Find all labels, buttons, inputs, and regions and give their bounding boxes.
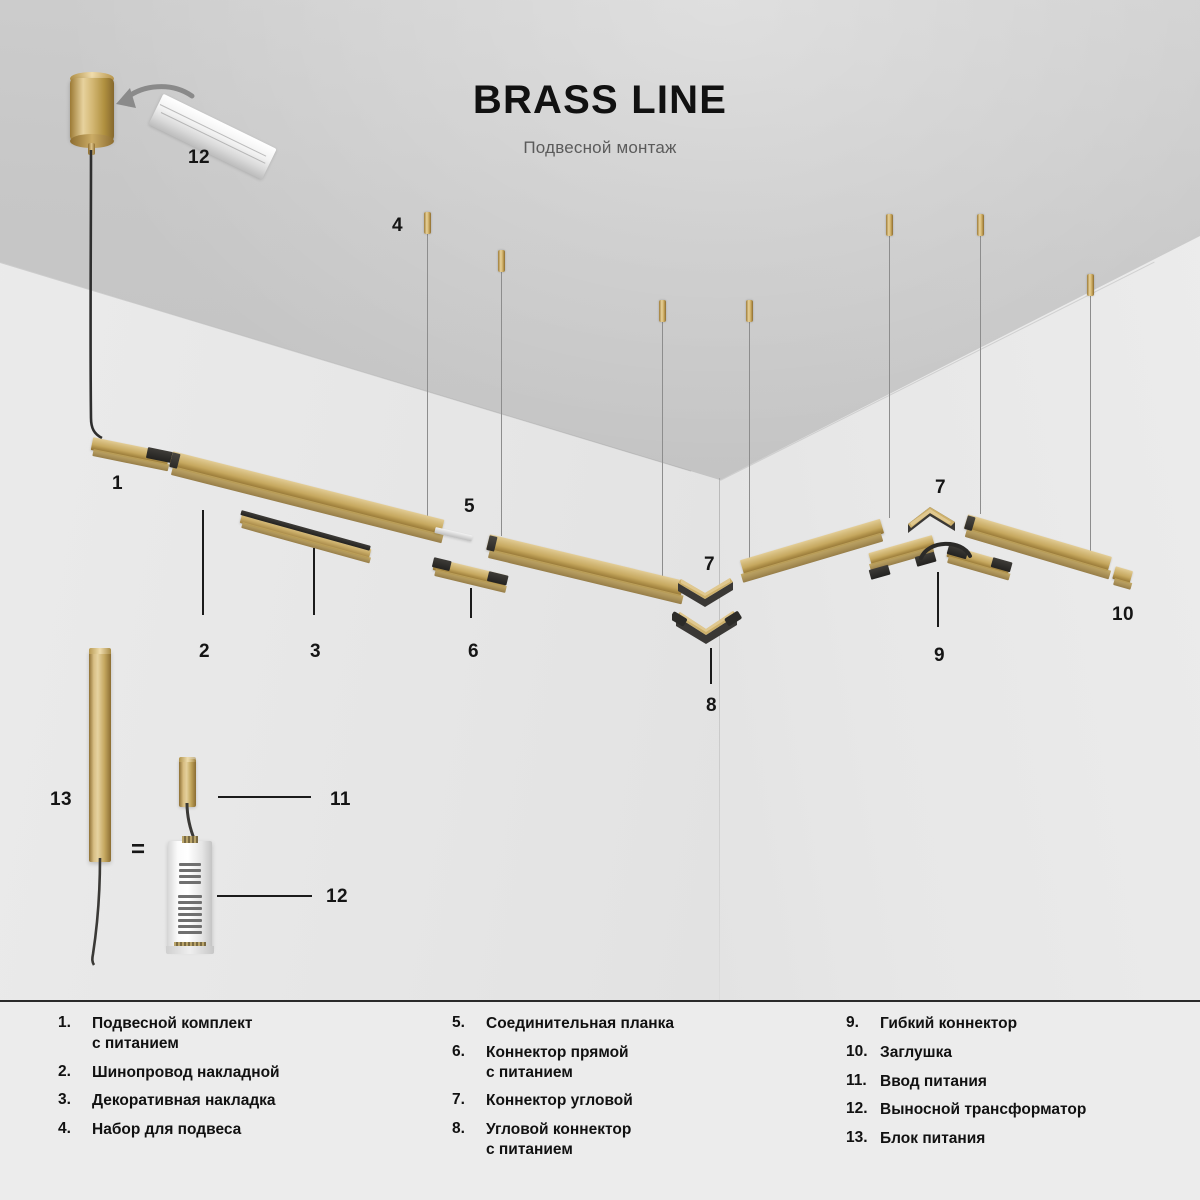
legend-item: 12. Выносной трансформатор xyxy=(846,1100,1186,1120)
legend-item-label: Коннектор прямой с питанием xyxy=(486,1043,629,1083)
legend-item-label: Гибкий коннектор xyxy=(880,1014,1017,1034)
legend-item-number: 13. xyxy=(846,1129,880,1149)
leader-line-3 xyxy=(313,548,315,615)
psu-vent xyxy=(178,931,202,934)
callout-11: 11 xyxy=(330,789,351,811)
callout-9: 9 xyxy=(934,645,945,667)
psu-vent xyxy=(179,881,201,884)
legend-item-label: Выносной трансформатор xyxy=(880,1100,1086,1120)
callout-6: 6 xyxy=(468,641,479,663)
legend-item-label: Соединительная планка xyxy=(486,1014,674,1034)
legend-item: 5. Соединительная планка xyxy=(452,1014,812,1034)
legend-item-label: Блок питания xyxy=(880,1129,985,1149)
legend-item-label: Подвесной комплект с питанием xyxy=(92,1014,253,1054)
legend-item: 13. Блок питания xyxy=(846,1129,1186,1149)
page-title: BRASS LINE xyxy=(0,78,1200,123)
psu-vent xyxy=(178,901,202,904)
suspension-clip-icon xyxy=(424,212,431,234)
psu-vent xyxy=(179,863,201,866)
suspension-wire xyxy=(427,230,428,530)
legend-item: 9. Гибкий коннектор xyxy=(846,1014,1186,1034)
legend-item-number: 3. xyxy=(58,1091,92,1111)
legend-item-number: 8. xyxy=(452,1120,486,1160)
callout-10: 10 xyxy=(1112,604,1134,626)
callout-2: 2 xyxy=(199,641,210,663)
suspension-wire xyxy=(749,318,750,562)
psu-terminal-top xyxy=(182,836,198,843)
suspension-wire xyxy=(501,268,502,536)
suspension-clip-icon xyxy=(977,214,984,236)
legend-panel: 1. Подвесной комплект с питанием 2. Шино… xyxy=(0,1000,1200,1200)
legend-item-number: 12. xyxy=(846,1100,880,1120)
suspension-clip-icon xyxy=(1087,274,1094,296)
leader-line-6 xyxy=(470,588,472,618)
legend-item-label: Ввод питания xyxy=(880,1072,987,1092)
legend-item-label: Угловой коннектор с питанием xyxy=(486,1120,631,1160)
product-diagram-page: = 1 xyxy=(0,0,1200,1200)
corner-connector-upper xyxy=(675,576,737,610)
callout-5: 5 xyxy=(464,496,475,518)
psu-vent xyxy=(178,895,202,898)
callout-7-left: 7 xyxy=(704,554,715,576)
suspension-wire xyxy=(662,318,663,578)
legend-divider xyxy=(0,1000,1200,1002)
pendant-power-cable xyxy=(78,150,118,440)
flex-connector-cable xyxy=(918,536,974,566)
psu-vent xyxy=(178,907,202,910)
legend-item-number: 6. xyxy=(452,1043,486,1083)
leader-line-2 xyxy=(202,510,204,615)
suspension-wire xyxy=(980,232,981,514)
legend-item: 8. Угловой коннектор с питанием xyxy=(452,1120,812,1160)
legend-item-label: Коннектор угловой xyxy=(486,1091,633,1111)
legend-item-number: 4. xyxy=(58,1120,92,1140)
psu-vent xyxy=(178,925,202,928)
callout-4: 4 xyxy=(392,215,403,237)
legend-item-label: Декоративная накладка xyxy=(92,1091,276,1111)
psu-end-plate xyxy=(166,946,214,954)
leader-line-12 xyxy=(217,895,312,897)
legend-item-number: 7. xyxy=(452,1091,486,1111)
callout-3: 3 xyxy=(310,641,321,663)
suspension-clip-icon xyxy=(886,214,893,236)
psu-vent xyxy=(179,875,201,878)
legend-item-number: 1. xyxy=(58,1014,92,1054)
psu-vent xyxy=(178,919,202,922)
callout-8: 8 xyxy=(706,695,717,717)
callout-12-bottom: 12 xyxy=(326,886,348,908)
legend-item-number: 11. xyxy=(846,1072,880,1092)
legend-column-1: 1. Подвесной комплект с питанием 2. Шино… xyxy=(58,1014,418,1149)
legend-item: 6. Коннектор прямой с питанием xyxy=(452,1043,812,1083)
legend-column-3: 9. Гибкий коннектор 10. Заглушка 11. Вво… xyxy=(846,1014,1186,1158)
legend-item: 10. Заглушка xyxy=(846,1043,1186,1063)
suspension-clip-icon xyxy=(746,300,753,322)
wall-corner-edge xyxy=(719,478,720,1000)
leader-line-8 xyxy=(710,648,712,684)
legend-item: 4. Набор для подвеса xyxy=(58,1120,418,1140)
suspension-wire xyxy=(889,232,890,518)
psu-vent xyxy=(178,913,202,916)
power-input-body xyxy=(179,759,196,807)
corner-connector-right xyxy=(906,504,958,538)
legend-item: 1. Подвесной комплект с питанием xyxy=(58,1014,418,1054)
legend-item-number: 9. xyxy=(846,1014,880,1034)
suspension-clip-icon xyxy=(659,300,666,322)
legend-item-label: Заглушка xyxy=(880,1043,952,1063)
legend-column-2: 5. Соединительная планка 6. Коннектор пр… xyxy=(452,1014,812,1169)
power-block-bar xyxy=(89,650,111,862)
suspension-clip-icon xyxy=(498,250,505,272)
legend-item-number: 10. xyxy=(846,1043,880,1063)
legend-item: 11. Ввод питания xyxy=(846,1072,1186,1092)
leader-line-9 xyxy=(937,572,939,627)
leader-line-11 xyxy=(218,796,311,798)
legend-item-number: 5. xyxy=(452,1014,486,1034)
legend-item-label: Набор для подвеса xyxy=(92,1120,241,1140)
scene-illustration: = 1 xyxy=(0,0,1200,1000)
legend-item-label: Шинопровод накладной xyxy=(92,1063,280,1083)
corner-power-connector xyxy=(672,608,742,646)
callout-1: 1 xyxy=(112,473,123,495)
legend-item: 3. Декоративная накладка xyxy=(58,1091,418,1111)
power-input-cap xyxy=(179,757,196,762)
power-block-cable xyxy=(84,858,124,966)
legend-item: 2. Шинопровод накладной xyxy=(58,1063,418,1083)
callout-13: 13 xyxy=(50,789,72,811)
callout-7-right: 7 xyxy=(935,477,946,499)
legend-item-number: 2. xyxy=(58,1063,92,1083)
power-block-bar-top xyxy=(89,648,111,654)
page-subtitle: Подвесной монтаж xyxy=(0,138,1200,158)
suspension-wire xyxy=(1090,292,1091,554)
psu-housing xyxy=(168,841,212,949)
psu-vent xyxy=(179,869,201,872)
equals-sign: = xyxy=(131,836,145,864)
legend-item: 7. Коннектор угловой xyxy=(452,1091,812,1111)
